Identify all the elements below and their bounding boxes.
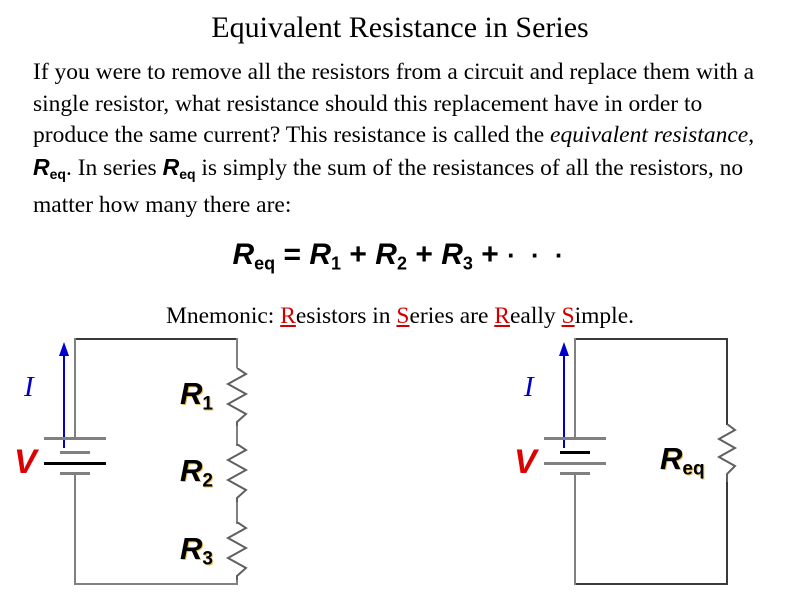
current-arrow-icon-right (548, 338, 588, 458)
wire-between-r2-r3 (236, 502, 238, 524)
wire-top-left-circuit (74, 338, 238, 340)
resistor-zigzag-r2 (224, 444, 250, 504)
inline-req-symbol-1: Req (33, 154, 66, 180)
equation-plus-1-glyph: + (349, 238, 367, 271)
equation-lhs-letter: R (232, 238, 254, 271)
equation-equals-glyph: = (284, 238, 302, 271)
body-text-part-3: , (748, 122, 754, 148)
current-arrow-icon (48, 338, 88, 458)
battery-plate-long-2-right (544, 462, 606, 465)
mnemonic-word-1: esistors (296, 303, 367, 329)
equation-plus-2-glyph: + (415, 238, 433, 271)
mnemonic-highlight-r1: R (280, 303, 296, 329)
mnemonic-word-2: eries (409, 303, 453, 329)
resistor-label-r1: R1 (180, 378, 213, 414)
equation-term-1-subscript: 1 (331, 253, 341, 273)
resistor-label-r1-letter: R (180, 376, 202, 411)
equation-term-3-subscript: 3 (463, 253, 473, 273)
body-paragraph: If you were to remove all the resistors … (33, 57, 773, 221)
mnemonic-word-4: imple. (575, 303, 634, 329)
equation-term-2-letter: R (375, 238, 397, 271)
equation-term-1: R1 (309, 238, 341, 271)
wire-right-lower-right-circuit (726, 480, 728, 585)
circuit-diagram-equivalent: I V Req (500, 330, 800, 600)
wire-right-upper-left-circuit (236, 338, 238, 368)
equation-plus-3: + (473, 238, 507, 271)
page-title: Equivalent Resistance in Series (0, 10, 800, 46)
equation-term-3-letter: R (441, 238, 463, 271)
resistor-label-r2-letter: R (180, 453, 202, 488)
battery-plate-short-1-right (560, 451, 590, 454)
equation-line: Req = R1 + R2 + R3 + · · · (0, 238, 800, 274)
equation-equals: = (275, 238, 309, 271)
equation-plus-3-glyph: + (481, 238, 499, 271)
equation-plus-2: + (407, 238, 441, 271)
equation-term-2-subscript: 2 (397, 253, 407, 273)
resistor-label-req-subscript: eq (682, 459, 704, 480)
mnemonic-highlight-r2: R (494, 303, 510, 329)
voltage-label-left: V (14, 445, 37, 479)
wire-top-right-circuit (574, 338, 728, 340)
wire-left-upper-left-circuit (74, 338, 76, 439)
resistor-label-req-letter: R (660, 441, 682, 476)
voltage-label-right: V (514, 445, 537, 479)
equation-term-3: R3 (441, 238, 473, 271)
wire-left-lower-left-circuit (74, 473, 76, 585)
slide-canvas: Equivalent Resistance in Series If you w… (0, 0, 800, 600)
wire-right-upper-right-circuit (726, 338, 728, 425)
battery-plate-long-2-left (44, 462, 106, 465)
resistor-label-r3-letter: R (180, 531, 202, 566)
inline-req-letter-2: R (163, 154, 180, 180)
mnemonic-sep-1: in (366, 303, 396, 329)
battery-plate-long-1-left (44, 437, 106, 440)
mnemonic-word-3: eally (510, 303, 556, 329)
battery-plate-long-1-right (544, 437, 606, 440)
equation-lhs: Req (232, 238, 275, 271)
inline-req-letter-1: R (33, 154, 50, 180)
resistor-zigzag-req (715, 424, 741, 482)
inline-req-subscript-2: eq (179, 165, 195, 181)
wire-bottom-right-circuit (574, 583, 728, 585)
battery-plate-short-1-left (60, 451, 90, 454)
resistor-zigzag-r1 (224, 368, 250, 428)
mnemonic-line: Mnemonic: Resistors in Series are Really… (0, 303, 800, 330)
wire-between-r1-r2 (236, 426, 238, 446)
resistor-zigzag-r3 (224, 522, 250, 582)
inline-req-symbol-2: Req (163, 154, 196, 180)
equation-ellipsis: · · · (507, 240, 567, 270)
circuit-diagram-series: I V R1 (0, 330, 300, 600)
inline-req-subscript-1: eq (50, 165, 66, 181)
resistor-label-r2-subscript: 2 (202, 471, 213, 492)
wire-r3-to-bottom (236, 580, 238, 585)
body-text-part-5: . In series (66, 155, 163, 181)
resistor-label-r3-subscript: 3 (202, 549, 213, 570)
resistor-label-r1-subscript: 1 (202, 394, 213, 415)
battery-plate-short-2-left (60, 472, 90, 475)
equation-term-1-letter: R (309, 238, 331, 271)
mnemonic-highlight-s2: S (562, 303, 575, 329)
resistor-label-r2: R2 (180, 455, 213, 491)
resistor-label-req: Req (660, 443, 705, 479)
current-label-left: I (24, 373, 34, 402)
wire-left-lower-right-circuit (574, 473, 576, 585)
equation-lhs-subscript: eq (254, 253, 275, 273)
equation-plus-1: + (341, 238, 375, 271)
wire-bottom-left-circuit (74, 583, 238, 585)
mnemonic-highlight-s1: S (396, 303, 409, 329)
mnemonic-sep-2: are (454, 303, 494, 329)
body-text-italic-term: equivalent resistance (550, 122, 748, 148)
battery-plate-short-2-right (560, 472, 590, 475)
current-label-right: I (524, 373, 534, 402)
wire-left-upper-right-circuit (574, 338, 576, 439)
equation-term-2: R2 (375, 238, 407, 271)
resistor-label-r3: R3 (180, 533, 213, 569)
mnemonic-lead: Mnemonic: (166, 303, 280, 329)
